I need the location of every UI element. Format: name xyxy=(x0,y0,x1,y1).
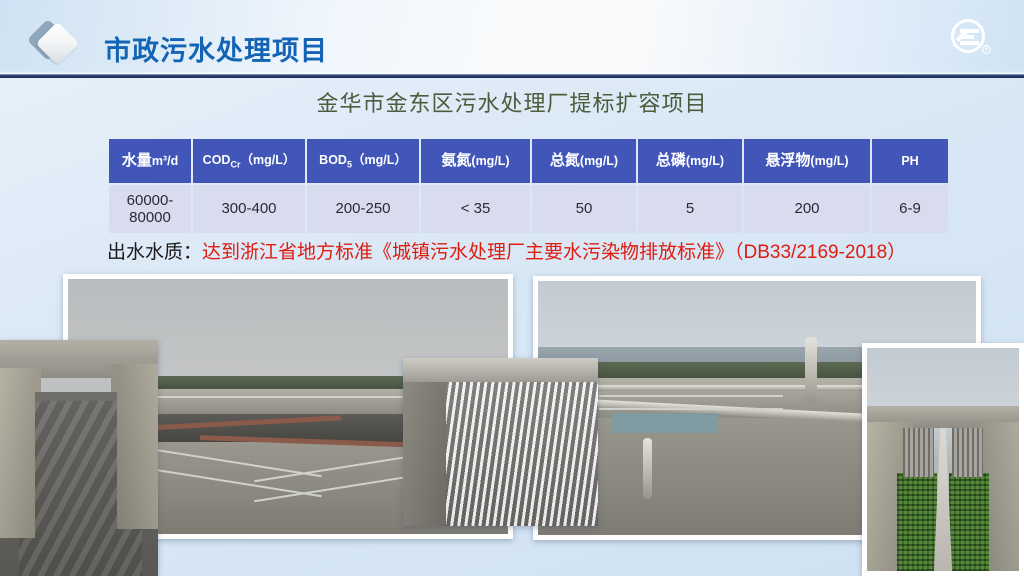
header-bod-unit: （mg/L） xyxy=(352,153,407,167)
registered-trademark-icon: R xyxy=(982,45,991,54)
page-title: 市政污水处理项目 xyxy=(104,38,328,65)
cell-total-phosphorus: 5 xyxy=(638,185,742,233)
slide-header: 市政污水处理项目 R xyxy=(0,0,1024,78)
emblem-bar-bottom xyxy=(960,41,979,45)
cell-ammonia: < 35 xyxy=(421,185,530,233)
cell-ph: 6-9 xyxy=(872,185,948,233)
cell-total-nitrogen: 50 xyxy=(532,185,636,233)
table-header-cod: CODCr（mg/L） xyxy=(193,139,305,183)
table-header-total-phosphorus: 总磷(mg/L) xyxy=(638,139,742,183)
scene-algae-left xyxy=(897,473,937,571)
scene-tower-stack xyxy=(805,337,817,403)
slide-canvas: 市政污水处理项目 R 金华市金东区污水处理厂提标扩容项目 水量m³/d CODC… xyxy=(0,0,1024,576)
header-ammonia-label: 氨氮 xyxy=(441,152,471,169)
table-header-row-group: 水量m³/d CODCr（mg/L） BOD5（mg/L） 氨氮(mg/L) 总… xyxy=(109,139,948,183)
table-header-ammonia: 氨氮(mg/L) xyxy=(421,139,530,183)
scene-algae-right xyxy=(949,473,989,571)
company-emblem-icon: R xyxy=(951,19,991,59)
header-tn-label: 总氮 xyxy=(550,152,580,169)
header-bod-label: BOD xyxy=(319,153,347,167)
header-ammonia-unit: (mg/L) xyxy=(471,154,509,168)
header-tp-label: 总磷 xyxy=(656,152,686,169)
header-cod-label: COD xyxy=(203,153,231,167)
table-header-total-nitrogen: 总氮(mg/L) xyxy=(532,139,636,183)
table-row: 60000-80000 300-400 200-250 < 35 50 5 20… xyxy=(109,185,948,233)
project-subtitle: 金华市金东区污水处理厂提标扩容项目 xyxy=(0,91,1024,117)
cell-bod: 200-250 xyxy=(307,185,419,233)
table-header-flow: 水量m³/d xyxy=(109,139,191,183)
header-cod-unit: （mg/L） xyxy=(240,153,295,167)
cell-cod: 300-400 xyxy=(193,185,305,233)
table-header-bod: BOD5（mg/L） xyxy=(307,139,419,183)
table-header-row: 水量m³/d CODCr（mg/L） BOD5（mg/L） 氨氮(mg/L) 总… xyxy=(109,139,948,183)
effluent-note-value: 达到浙江省地方标准《城镇污水处理厂主要水污染物排放标准》（DB33/2169-2… xyxy=(202,242,906,263)
header-flow-unit: m³/d xyxy=(152,154,178,168)
scene-railing-1 xyxy=(599,395,783,397)
header-divider xyxy=(0,74,1024,78)
scene-pipe-riser-1 xyxy=(643,438,652,499)
scene-grate-right xyxy=(952,428,982,477)
scene-grate-left xyxy=(903,428,933,477)
header-ss-unit: (mg/L) xyxy=(810,154,848,168)
cell-flow: 60000-80000 xyxy=(109,185,191,233)
cell-suspended-solids: 200 xyxy=(744,185,870,233)
header-cod-sub: Cr xyxy=(230,159,240,169)
photo-weir-overflow-image xyxy=(403,358,598,526)
scene-weir-crest xyxy=(403,358,598,382)
effluent-note-label: 出水水质： xyxy=(107,242,202,263)
photo-aeration-tank xyxy=(0,340,158,576)
table-header-ph: PH xyxy=(872,139,948,183)
header-flow-label: 水量 xyxy=(122,152,152,169)
header-tp-unit: (mg/L) xyxy=(686,154,724,168)
table-header-suspended-solids: 悬浮物(mg/L) xyxy=(744,139,870,183)
photo-contact-tank xyxy=(862,343,1024,576)
table-body: 60000-80000 300-400 200-250 < 35 50 5 20… xyxy=(109,185,948,233)
scene-open-basin xyxy=(612,413,717,433)
photo-weir-overflow xyxy=(403,358,598,526)
diamond-logo-icon xyxy=(33,21,81,69)
header-ph-label: PH xyxy=(901,154,918,168)
header-tn-unit: (mg/L) xyxy=(580,154,618,168)
effluent-quality-note: 出水水质：达到浙江省地方标准《城镇污水处理厂主要水污染物排放标准》（DB33/2… xyxy=(107,241,906,266)
photo-aeration-tank-image xyxy=(0,340,158,576)
scene-weir-wall xyxy=(403,358,446,526)
water-quality-spec-table: 水量m³/d CODCr（mg/L） BOD5（mg/L） 氨氮(mg/L) 总… xyxy=(107,137,950,235)
scene-right-wall-front xyxy=(117,364,158,529)
scene-left-wall-front xyxy=(0,368,35,538)
photo-contact-tank-image xyxy=(867,348,1019,571)
header-ss-label: 悬浮物 xyxy=(765,152,810,169)
scene-railing-2 xyxy=(599,408,783,410)
